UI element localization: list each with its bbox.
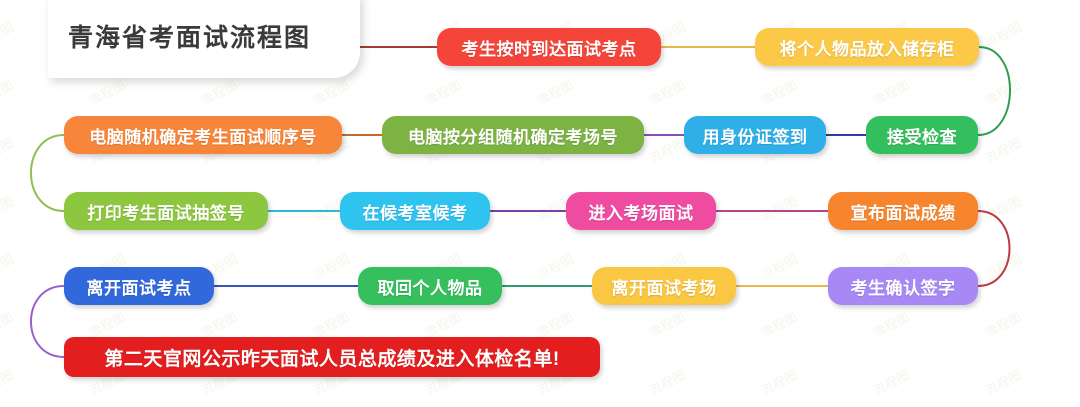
flow-node-label: 考生确认签字 [851,274,956,299]
flowchart-canvas: 流程图流程图流程图流程图流程图流程图流程图流程图流程图流程图流程图流程图流程图流… [0,0,1080,407]
flow-node-label: 接受检查 [887,123,957,148]
flow-node-n11[interactable]: 离开面试考点 [64,267,214,305]
flow-connector [31,135,64,211]
flow-node-n9[interactable]: 进入考场面试 [566,192,716,230]
flow-node-n2[interactable]: 将个人物品放入储存柜 [755,28,979,66]
flow-node-n15[interactable]: 第二天官网公示昨天面试人员总成绩及进入体检名单! [64,337,600,377]
flow-node-label: 将个人物品放入储存柜 [780,35,955,60]
flow-connector [31,286,64,357]
flow-node-label: 用身份证签到 [703,123,808,148]
flow-node-label: 宣布面试成绩 [851,199,956,224]
flow-node-n6[interactable]: 接受检查 [866,116,978,154]
flow-node-n14[interactable]: 考生确认签字 [828,267,978,305]
flow-node-label: 取回个人物品 [378,274,483,299]
flow-node-label: 打印考生面试抽签号 [87,199,245,224]
flowchart-title-card: 青海省考面试流程图 [48,0,360,78]
flow-node-label: 电脑随机确定考生面试顺序号 [89,123,317,148]
flow-node-n4[interactable]: 电脑按分组随机确定考场号 [382,116,644,154]
flow-connector [978,211,1010,286]
flow-node-label: 进入考场面试 [589,199,694,224]
flow-connector [978,47,1010,135]
flow-node-n13[interactable]: 离开面试考场 [592,267,736,305]
flow-node-n5[interactable]: 用身份证签到 [684,116,826,154]
flow-node-n3[interactable]: 电脑随机确定考生面试顺序号 [64,116,342,154]
flow-node-label: 在候考室候考 [363,199,468,224]
flow-node-label: 电脑按分组随机确定考场号 [408,123,618,148]
flow-node-label: 离开面试考场 [612,274,717,299]
flow-node-n12[interactable]: 取回个人物品 [358,267,502,305]
flow-node-n1[interactable]: 考生按时到达面试考点 [437,28,661,66]
flowchart-title-label: 青海省考面试流程图 [68,18,311,54]
flow-node-n8[interactable]: 在候考室候考 [340,192,490,230]
flow-node-n10[interactable]: 宣布面试成绩 [828,192,978,230]
flow-node-n7[interactable]: 打印考生面试抽签号 [64,192,268,230]
flow-node-label: 第二天官网公示昨天面试人员总成绩及进入体检名单! [104,344,559,371]
flow-node-label: 考生按时到达面试考点 [462,35,637,60]
flow-node-label: 离开面试考点 [87,274,192,299]
